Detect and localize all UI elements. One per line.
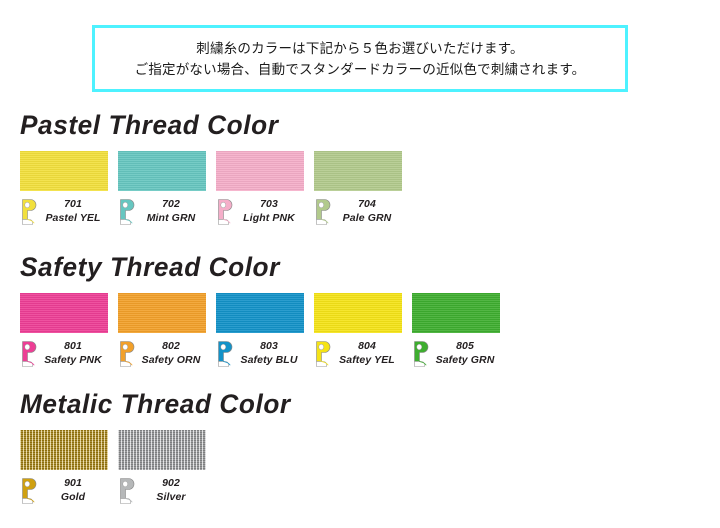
thread-spool-icon	[20, 340, 37, 368]
swatch-cell[interactable]: 703Light PNK	[216, 151, 304, 231]
swatch-code: 703	[234, 197, 304, 211]
color-swatch[interactable]	[118, 293, 206, 333]
color-swatch[interactable]	[118, 151, 206, 191]
notice-box: 刺繍糸のカラーは下記から５色お選びいただけます。 ご指定がない場合、自動でスタン…	[92, 25, 628, 92]
swatch-text: 804Saftey YEL	[331, 339, 402, 367]
swatch-text: 902Silver	[135, 476, 206, 504]
swatch-cell[interactable]: 702Mint GRN	[118, 151, 206, 231]
swatch-name: Gold	[38, 490, 108, 504]
color-swatch[interactable]	[20, 151, 108, 191]
notice-line-1: 刺繍糸のカラーは下記から５色お選びいただけます。	[196, 38, 523, 59]
swatch-code: 801	[38, 339, 108, 353]
swatch-cell[interactable]: 802Safety ORN	[118, 293, 206, 373]
swatch-label: 802Safety ORN	[118, 339, 206, 373]
swatch-text: 702Mint GRN	[135, 197, 206, 225]
color-swatch[interactable]	[314, 293, 402, 333]
swatch-name: Pale GRN	[332, 211, 402, 225]
swatch-code: 701	[38, 197, 108, 211]
section-safety: Safety Thread Color 801Safety PNK802Safe…	[0, 250, 720, 373]
thread-spool-icon	[216, 340, 233, 368]
swatch-cell[interactable]: 704Pale GRN	[314, 151, 402, 231]
section-metalic: Metalic Thread Color 901Gold902Silver	[0, 387, 720, 510]
swatch-label: 801Safety PNK	[20, 339, 108, 373]
swatch-row-metalic: 901Gold902Silver	[20, 430, 720, 510]
color-swatch[interactable]	[216, 151, 304, 191]
swatch-cell[interactable]: 803Safety BLU	[216, 293, 304, 373]
swatch-label: 803Safety BLU	[216, 339, 304, 373]
swatch-code: 902	[136, 476, 206, 490]
swatch-label: 703Light PNK	[216, 197, 304, 231]
swatch-text: 703Light PNK	[233, 197, 304, 225]
swatch-name: Light PNK	[234, 211, 304, 225]
swatch-name: Silver	[136, 490, 206, 504]
swatch-text: 701Pastel YEL	[37, 197, 108, 225]
swatch-row-safety: 801Safety PNK802Safety ORN803Safety BLU8…	[20, 293, 720, 373]
swatch-code: 901	[38, 476, 108, 490]
swatch-code: 704	[332, 197, 402, 211]
notice-line-2: ご指定がない場合、自動でスタンダードカラーの近似色で刺繍されます。	[135, 59, 586, 80]
swatch-text: 704Pale GRN	[331, 197, 402, 225]
swatch-label: 902Silver	[118, 476, 206, 510]
thread-spool-icon	[20, 477, 37, 505]
swatch-code: 803	[234, 339, 304, 353]
swatch-cell[interactable]: 805Safety GRN	[412, 293, 500, 373]
swatch-label: 701Pastel YEL	[20, 197, 108, 231]
swatch-cell[interactable]: 801Safety PNK	[20, 293, 108, 373]
thread-spool-icon	[412, 340, 429, 368]
section-pastel: Pastel Thread Color 701Pastel YEL702Mint…	[0, 108, 720, 231]
swatch-text: 901Gold	[37, 476, 108, 504]
section-heading-safety: Safety Thread Color	[20, 250, 699, 284]
thread-spool-icon	[118, 198, 135, 226]
swatch-cell[interactable]: 804Saftey YEL	[314, 293, 402, 373]
swatch-cell[interactable]: 901Gold	[20, 430, 108, 510]
thread-spool-icon	[216, 198, 233, 226]
thread-spool-icon	[314, 198, 331, 226]
color-swatch[interactable]	[20, 293, 108, 333]
color-swatch[interactable]	[118, 430, 206, 470]
thread-spool-icon	[118, 340, 135, 368]
swatch-label: 804Saftey YEL	[314, 339, 402, 373]
section-heading-pastel: Pastel Thread Color	[20, 108, 699, 142]
swatch-text: 802Safety ORN	[135, 339, 206, 367]
swatch-cell[interactable]: 902Silver	[118, 430, 206, 510]
swatch-text: 805Safety GRN	[429, 339, 500, 367]
swatch-name: Pastel YEL	[38, 211, 108, 225]
color-swatch[interactable]	[216, 293, 304, 333]
swatch-row-pastel: 701Pastel YEL702Mint GRN703Light PNK704P…	[20, 151, 720, 231]
swatch-name: Safety PNK	[38, 353, 108, 367]
color-swatch[interactable]	[412, 293, 500, 333]
swatch-code: 804	[332, 339, 402, 353]
swatch-name: Safety ORN	[136, 353, 206, 367]
swatch-cell[interactable]: 701Pastel YEL	[20, 151, 108, 231]
swatch-code: 702	[136, 197, 206, 211]
thread-spool-icon	[314, 340, 331, 368]
swatch-name: Mint GRN	[136, 211, 206, 225]
color-swatch[interactable]	[20, 430, 108, 470]
swatch-code: 802	[136, 339, 206, 353]
swatch-label: 901Gold	[20, 476, 108, 510]
swatch-code: 805	[430, 339, 500, 353]
swatch-name: Safety GRN	[430, 353, 500, 367]
swatch-label: 805Safety GRN	[412, 339, 500, 373]
thread-spool-icon	[20, 198, 37, 226]
swatch-text: 801Safety PNK	[37, 339, 108, 367]
swatch-name: Safety BLU	[234, 353, 304, 367]
swatch-text: 803Safety BLU	[233, 339, 304, 367]
swatch-label: 702Mint GRN	[118, 197, 206, 231]
thread-spool-icon	[118, 477, 135, 505]
swatch-name: Saftey YEL	[332, 353, 402, 367]
color-swatch[interactable]	[314, 151, 402, 191]
swatch-label: 704Pale GRN	[314, 197, 402, 231]
section-heading-metalic: Metalic Thread Color	[20, 387, 699, 421]
